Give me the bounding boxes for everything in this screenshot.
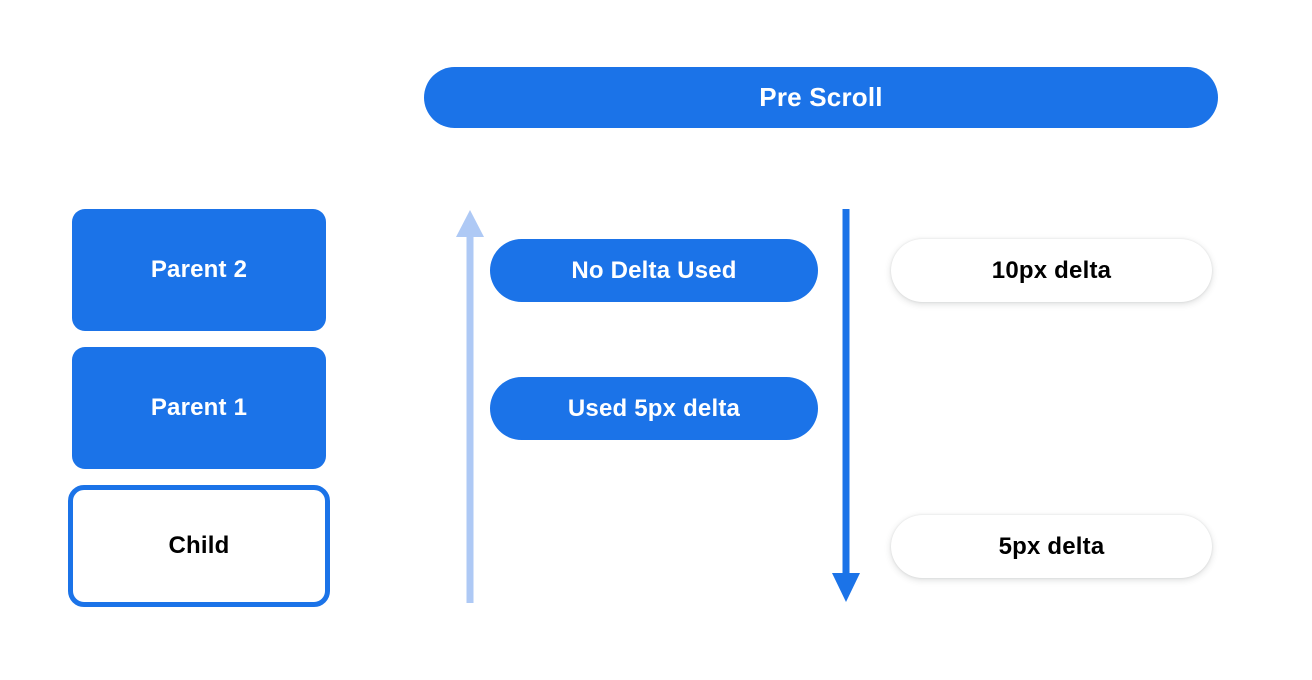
scroll-up-arrow-icon [452,205,488,607]
pill-10px-delta: 10px delta [891,239,1212,302]
pill-no-delta-used: No Delta Used [490,239,818,302]
pre-scroll-header-label: Pre Scroll [759,82,882,113]
pill-5px-delta-label: 5px delta [999,533,1105,561]
pre-scroll-header-bar: Pre Scroll [424,67,1218,128]
scroll-down-arrow-icon [828,205,864,607]
node-parent-1: Parent 1 [72,347,326,469]
pill-used-5px-delta: Used 5px delta [490,377,818,440]
pill-used-5px-delta-label: Used 5px delta [568,395,740,423]
node-parent-2-label: Parent 2 [151,256,247,284]
node-parent-2: Parent 2 [72,209,326,331]
pill-5px-delta: 5px delta [891,515,1212,578]
pill-10px-delta-label: 10px delta [992,257,1111,285]
node-child: Child [68,485,330,607]
node-parent-1-label: Parent 1 [151,394,247,422]
node-child-label: Child [169,532,230,560]
pill-no-delta-used-label: No Delta Used [571,257,736,285]
diagram-canvas: Pre Scroll Parent 2 Parent 1 Child No De… [0,0,1312,680]
